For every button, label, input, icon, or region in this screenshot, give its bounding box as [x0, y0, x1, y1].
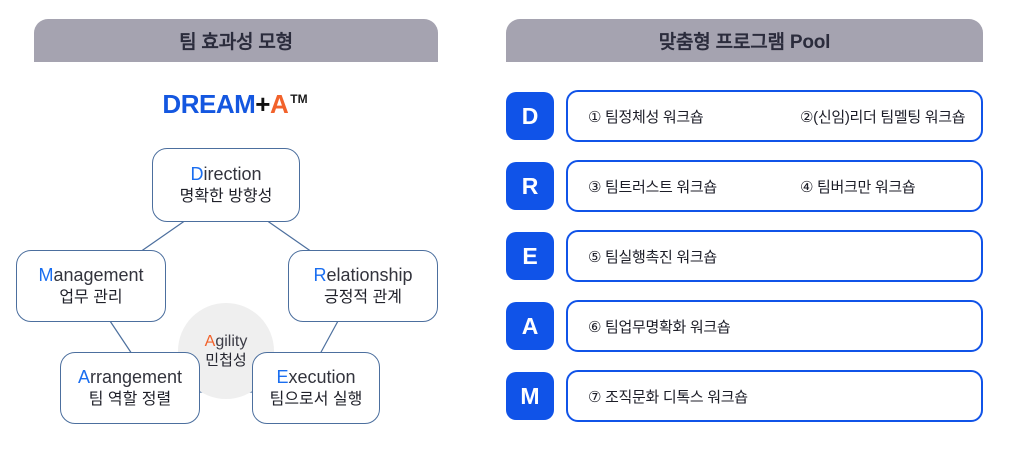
pool-row-d: D ① 팀정체성 워크숍 ②(신임)리더 팀멜팅 워크숍	[506, 90, 983, 142]
node-arrangement-rest: rrangement	[90, 367, 182, 387]
node-execution-korean: 팀으로서 실행	[270, 390, 363, 409]
pool-row-r: R ③ 팀트러스트 워크숍 ④ 팀버크만 워크숍	[506, 160, 983, 212]
agility-korean-label: 민첩성	[205, 352, 246, 370]
pool-box-e[interactable]: ⑤ 팀실행촉진 워크숍	[566, 230, 983, 282]
pool-box-m[interactable]: ⑦ 조직문화 디톡스 워크숍	[566, 370, 983, 422]
node-management-cap: M	[38, 265, 53, 285]
pool-item-1[interactable]: ① 팀정체성 워크숍	[588, 106, 703, 127]
agility-english-label: Agility	[205, 332, 248, 352]
edge-management-arrangement	[110, 321, 132, 354]
pool-item-2[interactable]: ②(신임)리더 팀멜팅 워크숍	[800, 106, 965, 127]
agility-cap-letter: A	[205, 333, 216, 350]
node-arrangement-cap: A	[78, 367, 90, 387]
node-direction-rest: irection	[203, 164, 261, 184]
node-arrangement-korean: 팀 역할 정렬	[89, 390, 172, 409]
pool-row-a: A ⑥ 팀업무명확화 워크숍	[506, 300, 983, 352]
node-management-english: Management	[38, 265, 143, 287]
node-management-rest: anagement	[53, 265, 143, 285]
left-panel-title: 팀 효과성 모형	[179, 27, 293, 54]
pool-box-a[interactable]: ⑥ 팀업무명확화 워크숍	[566, 300, 983, 352]
node-execution-english: Execution	[276, 367, 355, 389]
node-relationship-cap: R	[313, 265, 326, 285]
node-execution-rest: xecution	[288, 367, 355, 387]
pool-item-7[interactable]: ⑦ 조직문화 디톡스 워크숍	[588, 386, 748, 407]
left-panel-header: 팀 효과성 모형	[34, 19, 438, 62]
node-relationship-english: Relationship	[313, 265, 412, 287]
node-direction-english: Direction	[190, 164, 261, 186]
pool-box-r[interactable]: ③ 팀트러스트 워크숍 ④ 팀버크만 워크숍	[566, 160, 983, 212]
right-panel-header: 맞춤형 프로그램 Pool	[506, 19, 983, 62]
pool-badge-e[interactable]: E	[506, 232, 554, 280]
node-relationship-korean: 긍정적 관계	[324, 288, 402, 307]
node-direction[interactable]: Direction 명확한 방향성	[152, 148, 300, 222]
node-relationship[interactable]: Relationship 긍정적 관계	[288, 250, 438, 322]
pool-box-d[interactable]: ① 팀정체성 워크숍 ②(신임)리더 팀멜팅 워크숍	[566, 90, 983, 142]
pool-row-m: M ⑦ 조직문화 디톡스 워크숍	[506, 370, 983, 422]
right-panel-title: 맞춤형 프로그램 Pool	[659, 27, 830, 54]
pool-row-e: E ⑤ 팀실행촉진 워크숍	[506, 230, 983, 282]
edge-direction-relationship	[266, 220, 312, 252]
pool-item-6[interactable]: ⑥ 팀업무명확화 워크숍	[588, 316, 730, 337]
node-direction-cap: D	[190, 164, 203, 184]
program-pool-panel: D ① 팀정체성 워크숍 ②(신임)리더 팀멜팅 워크숍 R ③ 팀트러스트 워…	[506, 90, 986, 450]
edge-relationship-execution	[320, 321, 338, 354]
pentagon-diagram: Agility 민첩성 Direction 명확한 방향성 Management…	[0, 62, 470, 457]
pool-badge-d[interactable]: D	[506, 92, 554, 140]
edge-direction-management	[140, 220, 186, 252]
pool-item-5[interactable]: ⑤ 팀실행촉진 워크숍	[588, 246, 717, 267]
node-direction-korean: 명확한 방향성	[180, 187, 273, 206]
node-management-korean: 업무 관리	[59, 288, 122, 307]
node-relationship-rest: elationship	[326, 265, 412, 285]
pool-item-3[interactable]: ③ 팀트러스트 워크숍	[588, 176, 717, 197]
pool-item-4[interactable]: ④ 팀버크만 워크숍	[800, 176, 915, 197]
pool-badge-r[interactable]: R	[506, 162, 554, 210]
node-arrangement[interactable]: Arrangement 팀 역할 정렬	[60, 352, 200, 424]
node-execution-cap: E	[276, 367, 288, 387]
agility-rest-letters: gility	[215, 333, 247, 350]
pool-badge-a[interactable]: A	[506, 302, 554, 350]
node-management[interactable]: Management 업무 관리	[16, 250, 166, 322]
pool-badge-m[interactable]: M	[506, 372, 554, 420]
node-arrangement-english: Arrangement	[78, 367, 182, 389]
team-effectiveness-model-panel: DREAM+ATM Agility 민첩성 Direction 명확한 방향성 …	[0, 62, 470, 457]
node-execution[interactable]: Execution 팀으로서 실행	[252, 352, 380, 424]
